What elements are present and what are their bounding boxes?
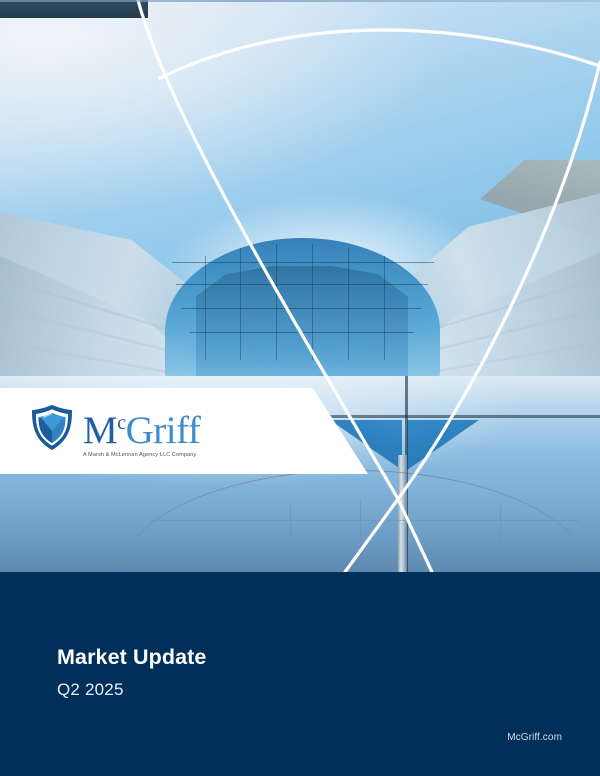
ring-mullion-v-6 xyxy=(384,256,385,360)
ring-mullion-1 xyxy=(172,262,434,263)
plaza-rail-post-2 xyxy=(360,500,361,542)
ring-mullion-3 xyxy=(182,308,422,309)
ring-mullion-v-4 xyxy=(312,244,313,360)
plaza-rail-post-1 xyxy=(290,505,291,541)
plaza-rail xyxy=(150,520,580,521)
ring-mullion-4 xyxy=(190,332,414,333)
ring-mullion-v-2 xyxy=(240,248,241,360)
footer-band: Market Update Q2 2025 McGriff.com xyxy=(0,572,600,776)
footer-website-url[interactable]: McGriff.com xyxy=(507,732,562,743)
ring-mullion-v-1 xyxy=(205,256,206,360)
page-title: Market Update xyxy=(57,645,206,670)
page-top-hairline xyxy=(0,0,600,2)
ring-mullion-v-5 xyxy=(348,248,349,360)
ring-mullion-v-3 xyxy=(276,244,277,360)
mcgriff-wordmark: McGriff A Marsh & McLennan Agency LLC Co… xyxy=(83,403,200,458)
hero-image xyxy=(0,0,600,572)
architecture-photo xyxy=(0,0,600,572)
ring-dark-slot xyxy=(0,0,148,18)
wordmark-griff: Griff xyxy=(126,409,201,452)
mcgriff-wordmark-text: McGriff xyxy=(83,403,200,451)
page-subtitle: Q2 2025 xyxy=(57,680,124,700)
wordmark-m: M xyxy=(83,409,117,452)
ring-mullion-2 xyxy=(176,284,428,285)
logo-tagline: A Marsh & McLennan Agency LLC Company xyxy=(83,452,200,458)
report-cover-page: McGriff A Marsh & McLennan Agency LLC Co… xyxy=(0,0,600,776)
mcgriff-logo: McGriff A Marsh & McLennan Agency LLC Co… xyxy=(30,404,200,459)
mcgriff-shield-icon xyxy=(30,404,74,451)
plaza-rail-post-3 xyxy=(500,506,501,542)
wordmark-superscript-c: c xyxy=(117,412,125,434)
